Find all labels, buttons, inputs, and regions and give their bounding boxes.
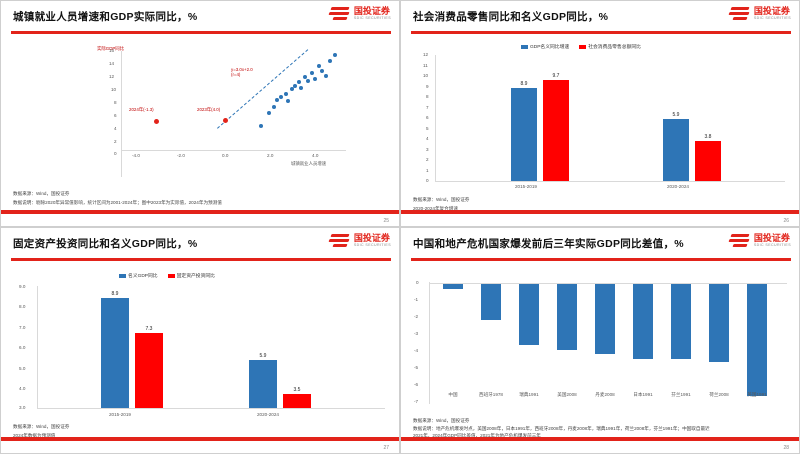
x-tick-spain-1978: 西班牙1978 [475,392,507,398]
bar-gdp-2020-2024 [249,360,277,408]
scatter-point [313,77,317,81]
legend: GDP名义同比增速 社会消费品零售总额同比 [521,43,641,50]
x-tick-uk-1991: 英国1991 [741,392,773,398]
footer-bar [401,437,799,441]
slide-1-chart: 实际GDP同比 16 14 12 10 8 6 4 2 0 -4.0 -2.0 … [1,37,400,197]
y-tick-0: 0 [426,178,429,183]
scatter-point [275,98,279,102]
x-axis [121,150,346,151]
slide-3: 固定资产投资同比和名义GDP同比，% 国投证券 SDIC SECURITIES … [0,227,400,454]
x-tick-japan-1991: 日本1991 [627,392,659,398]
bar-fai-2015-2019 [135,333,163,408]
slide-2: 社会消费品零售同比和名义GDP同比，% 国投证券 SDIC SECURITIES… [400,0,800,227]
watermark: @SMM 上海有色 [707,424,793,437]
brand-logo: 国投证券 SDIC SECURITIES [729,6,791,22]
slide-1-title: 城镇就业人员增速和GDP实际同比，% [13,9,198,24]
x-tick-0: 0.0 [222,153,228,158]
x-tick-4: 4.0 [312,153,318,158]
slide-2-header: 社会消费品零售同比和名义GDP同比，% 国投证券 SDIC SECURITIES [401,1,799,37]
bar-china [443,284,463,289]
scatter-point [320,69,324,73]
y-axis [37,286,38,408]
y-tick-8: 8.0 [19,304,25,309]
scatter-point [279,95,283,99]
y-tick-0: 0 [416,280,419,285]
legend: 名义GDP同比 固定资产投资同比 [119,272,215,279]
slide-4-chart: 0 -1 -2 -3 -4 -5 -6 -7 中国 西班牙1978 瑞典1991… [401,268,800,418]
brand-logo: 国投证券 SDIC SECURITIES [329,233,391,249]
bar-sweden-1991 [519,284,539,345]
highlight-label-2024: 2024年(-1.3) [129,107,154,113]
x-tick-netherlands-2008: 荷兰2008 [703,392,735,398]
slide-3-header: 固定资产投资同比和名义GDP同比，% 国投证券 SDIC SECURITIES [1,228,399,264]
y-tick-5: 5.0 [19,366,25,371]
y-tick-9: 9 [426,84,429,89]
brand-name-en: SDIC SECURITIES [354,17,391,21]
y-axis [121,51,122,177]
brand-name-cn: 国投证券 [754,7,791,16]
slide-1-source-2: 数据说明：剔除2020年异常值影响，统计区间为2001-2024年；图中2023… [13,200,222,207]
y-tick-6: 6 [426,115,429,120]
legend-swatch-gdp [521,45,528,49]
legend-item-gdp: GDP名义同比增速 [521,43,569,50]
highlight-point-2024 [154,119,159,124]
logo-mark-icon [329,233,351,249]
bar-label-gdp-2020-2024: 5.9 [249,353,277,359]
y-tick-2: 2 [426,157,429,162]
slide-4: 中国和地产危机国家爆发前后三年实际GDP同比差值，% 国投证券 SDIC SEC… [400,227,800,454]
legend-item-fai: 固定资产投资同比 [168,272,215,279]
x-axis-name: 城镇就业人员增速 [291,161,326,167]
y-tick-12: 12 [423,52,428,57]
logo-mark-icon [729,233,751,249]
legend-item-gdp: 名义GDP同比 [119,272,158,279]
scatter-point [328,59,332,63]
logo-mark-icon [329,6,351,22]
y-tick-4: 4 [114,126,117,131]
bar-finland-1991 [671,284,691,359]
legend-label-fai: 固定资产投资同比 [177,272,215,279]
y-tick-m2: -2 [414,314,418,319]
x-tick-denmark-2008: 丹麦2008 [589,392,621,398]
y-tick-1: 1 [426,168,429,173]
bar-denmark-2008 [595,284,615,354]
slide-4-page-number: 28 [783,445,789,451]
header-rule [11,31,391,34]
y-tick-6: 6 [114,113,117,118]
y-tick-10: 10 [423,73,428,78]
y-tick-m5: -5 [414,365,418,370]
y-tick-4: 4 [426,136,429,141]
header-rule [411,31,791,34]
slide-2-page-number: 26 [783,218,789,224]
logo-mark-icon [729,6,751,22]
highlight-label-2023: 2023年(4.0) [197,107,220,113]
y-tick-m3: -3 [414,331,418,336]
bar-label-fai-2020-2024: 3.5 [283,387,311,393]
slide-2-title: 社会消费品零售同比和名义GDP同比，% [413,9,608,24]
y-tick-5: 5 [426,126,429,131]
legend-item-retail: 社会消费品零售总额同比 [579,43,641,50]
bar-retail-2020-2024 [695,141,721,181]
x-tick-2020-2024: 2020-2024 [667,184,689,189]
y-tick-2: 2 [114,139,117,144]
legend-label-gdp: 名义GDP同比 [128,272,158,279]
y-tick-3: 3.0 [19,405,25,410]
slide-grid: 城镇就业人员增速和GDP实际同比，% 国投证券 SDIC SECURITIES … [0,0,800,454]
y-tick-11: 11 [423,63,428,68]
bar-uk-1991 [747,284,767,396]
slide-4-source-1: 数据来源：Wind，国投证券 [413,418,469,425]
x-tick-m2: -2.0 [177,153,185,158]
highlight-point-2023 [223,118,228,123]
slide-1-header: 城镇就业人员增速和GDP实际同比，% 国投证券 SDIC SECURITIES [1,1,399,37]
scatter-point [293,84,297,88]
scatter-point [306,79,310,83]
x-tick-china: 中国 [443,392,463,398]
legend-label-gdp: GDP名义同比增速 [530,43,569,50]
y-tick-m1: -1 [414,297,418,302]
y-axis [435,55,436,181]
y-tick-7: 7 [426,105,429,110]
scatter-point [317,64,321,68]
x-tick-finland-1991: 芬兰1991 [665,392,697,398]
y-tick-10: 10 [111,87,116,92]
scatter-point [310,71,314,75]
bar-japan-1991 [633,284,653,359]
bar-netherlands-2008 [709,284,729,362]
x-tick-sweden-1991: 瑞典1991 [513,392,545,398]
bar-label-retail-2015-2019: 9.7 [543,73,569,79]
bar-gdp-2015-2019 [511,88,537,181]
brand-name-en: SDIC SECURITIES [754,17,791,21]
bar-gdp-2020-2024 [663,119,689,181]
x-tick-2015-2019: 2015-2019 [109,412,131,417]
slide-2-source-1: 数据来源：Wind，国投证券 [413,197,469,204]
x-tick-2020-2024: 2020-2024 [257,412,279,417]
y-tick-12: 12 [109,74,114,79]
slide-3-page-number: 27 [383,445,389,451]
x-tick-us-2008: 美国2008 [551,392,583,398]
y-tick-9: 9.0 [19,284,25,289]
y-tick-8: 8 [114,100,117,105]
header-rule [411,258,791,261]
scatter-point [284,92,288,96]
y-tick-m6: -6 [414,382,418,387]
slide-1-source-1: 数据来源：Wind，国投证券 [13,191,69,198]
bar-label-retail-2020-2024: 3.8 [695,134,721,140]
footer-bar [401,210,799,214]
brand-name-en: SDIC SECURITIES [754,244,791,248]
slide-1-page-number: 25 [383,218,389,224]
scatter-point [324,74,328,78]
brand-name-en: SDIC SECURITIES [354,244,391,248]
y-tick-7: 7.0 [19,325,25,330]
scatter-point [333,53,337,57]
legend-label-retail: 社会消费品零售总额同比 [588,43,641,50]
header-rule [11,258,391,261]
y-tick-m4: -4 [414,348,418,353]
bar-us-2008 [557,284,577,350]
x-tick-m4: -4.0 [132,153,140,158]
x-axis [435,181,785,182]
y-tick-14: 14 [109,61,114,66]
y-tick-4: 4.0 [19,386,25,391]
bar-gdp-2015-2019 [101,298,129,408]
scatter-point [286,99,290,103]
brand-name-cn: 国投证券 [354,7,391,16]
brand-logo: 国投证券 SDIC SECURITIES [329,6,391,22]
footer-bar [1,210,399,214]
slide-1: 城镇就业人员增速和GDP实际同比，% 国投证券 SDIC SECURITIES … [0,0,400,227]
y-tick-3: 3 [426,147,429,152]
brand-logo: 国投证券 SDIC SECURITIES [729,233,791,249]
y-tick-6: 6.0 [19,345,25,350]
bar-fai-2020-2024 [283,394,311,408]
scatter-point [267,111,271,115]
bar-spain-1978 [481,284,501,320]
bar-label-fai-2015-2019: 7.3 [135,326,163,332]
scatter-point [297,80,301,84]
slide-3-source-1: 数据来源：Wind，国投证券 [13,424,69,431]
x-tick-2015-2019: 2015-2019 [515,184,537,189]
y-tick-16: 16 [109,48,114,53]
slide-3-title: 固定资产投资同比和名义GDP同比，% [13,236,198,251]
scatter-point [299,86,303,90]
slide-4-header: 中国和地产危机国家爆发前后三年实际GDP同比差值，% 国投证券 SDIC SEC… [401,228,799,264]
y-axis [429,282,430,404]
scatter-point [272,105,276,109]
x-axis [37,408,385,409]
bar-label-gdp-2015-2019: 8.9 [511,81,537,87]
bar-label-gdp-2020-2024: 5.9 [663,112,689,118]
x-tick-2: 2.0 [267,153,273,158]
y-tick-8: 8 [426,94,429,99]
legend-swatch-retail [579,45,586,49]
bar-retail-2015-2019 [543,80,569,181]
trendline [217,49,308,128]
regression-annotation: y=3.0x+2.0 (r=4) [231,67,253,77]
y-tick-0: 0 [114,151,117,156]
brand-name-cn: 国投证券 [754,234,791,243]
footer-bar [1,437,399,441]
legend-swatch-fai [168,274,175,278]
legend-swatch-gdp [119,274,126,278]
scatter-point [259,124,263,128]
slide-4-title: 中国和地产危机国家爆发前后三年实际GDP同比差值，% [413,236,684,251]
bar-label-gdp-2015-2019: 8.9 [101,291,129,297]
slide-2-chart: GDP名义同比增速 社会消费品零售总额同比 12 11 10 9 8 7 6 5… [401,39,800,197]
slide-3-chart: 名义GDP同比 固定资产投资同比 9.0 8.0 7.0 6.0 5.0 4.0… [1,266,400,424]
y-tick-m7: -7 [414,399,418,404]
brand-name-cn: 国投证券 [354,234,391,243]
